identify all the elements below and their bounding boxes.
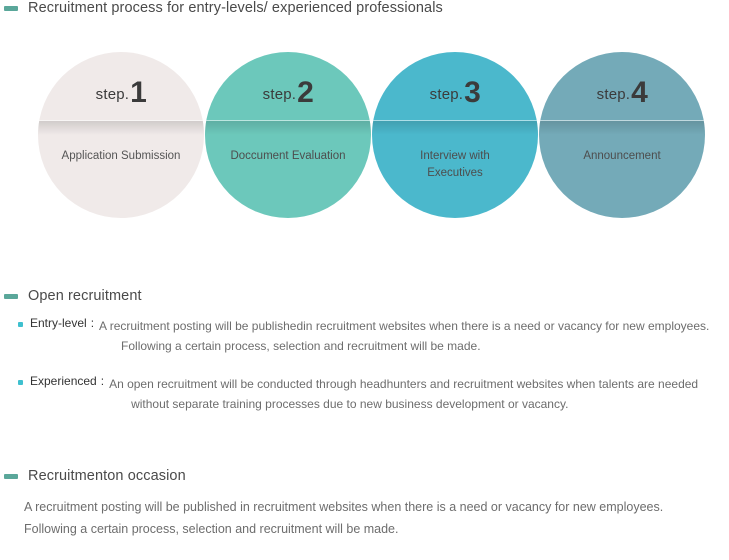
step-circle-2: step.2 Doccument Evaluation	[205, 52, 371, 218]
page-title: Recruitment process for entry-levels/ ex…	[28, 0, 443, 16]
step-circle-3: step.3 Interview with Executives	[372, 52, 538, 218]
step-shadow-3	[372, 121, 538, 135]
step-description-2: Doccument Evaluation	[213, 148, 363, 165]
occasion-heading: Recruitmenton occasion	[28, 468, 186, 484]
step-circle-1: step.1 Application Submission	[38, 52, 204, 218]
step-description-3-line2: Executives	[427, 167, 483, 179]
list-item: Entry-level : A recruitment posting will…	[18, 316, 723, 356]
step-label-4: step.4	[539, 78, 705, 108]
step-prefix-4: step.	[597, 86, 631, 103]
recruitment-steps: step.1 Application Submission step.2 Doc…	[38, 52, 718, 222]
step-description-4: Announcement	[547, 148, 697, 165]
step-shadow-4	[539, 121, 705, 135]
list-item-colon: :	[101, 374, 104, 388]
occasion-paragraph-line1: A recruitment posting will be published …	[24, 496, 724, 518]
list-item-term: Entry-level	[30, 316, 87, 330]
list-item-colon: :	[91, 316, 94, 330]
occasion-paragraph: A recruitment posting will be published …	[24, 496, 724, 540]
step-prefix-1: step.	[96, 86, 130, 103]
bullet-dot-icon	[18, 322, 23, 327]
step-number-1: 1	[130, 76, 146, 109]
list-item-line1: A recruitment posting will be publishedi…	[99, 319, 709, 333]
step-shadow-2	[205, 121, 371, 135]
step-description-3: Interview with Executives	[380, 148, 530, 182]
list-item-body: An open recruitment will be conducted th…	[109, 374, 698, 414]
step-label-3: step.3	[372, 78, 538, 108]
list-item-body: A recruitment posting will be publishedi…	[99, 316, 709, 356]
dash-icon	[4, 6, 18, 11]
step-circle-4: step.4 Announcement	[539, 52, 705, 218]
step-description-1: Application Submission	[46, 148, 196, 165]
dash-icon	[4, 294, 18, 299]
page-title-group: Recruitment process for entry-levels/ ex…	[4, 0, 443, 16]
step-label-1: step.1	[38, 78, 204, 108]
step-number-3: 3	[464, 76, 480, 109]
step-number-4: 4	[631, 76, 647, 109]
step-label-2: step.2	[205, 78, 371, 108]
list-item-line2: without separate training processes due …	[109, 394, 698, 414]
list-item-line1: An open recruitment will be conducted th…	[109, 377, 698, 391]
open-recruitment-list: Entry-level : A recruitment posting will…	[18, 316, 723, 432]
step-prefix-3: step.	[430, 86, 464, 103]
step-description-3-line1: Interview with	[420, 150, 490, 162]
step-number-2: 2	[297, 76, 313, 109]
occasion-heading-group: Recruitmenton occasion	[4, 468, 186, 484]
open-recruitment-heading: Open recruitment	[28, 288, 142, 304]
step-prefix-2: step.	[263, 86, 297, 103]
list-item-term: Experienced	[30, 374, 97, 388]
list-item-line2: Following a certain process, selection a…	[99, 336, 709, 356]
bullet-dot-icon	[18, 380, 23, 385]
step-shadow-1	[38, 121, 204, 135]
open-recruitment-heading-group: Open recruitment	[4, 288, 142, 304]
dash-icon	[4, 474, 18, 479]
occasion-paragraph-line2: Following a certain process, selection a…	[24, 518, 724, 540]
list-item: Experienced : An open recruitment will b…	[18, 374, 723, 414]
